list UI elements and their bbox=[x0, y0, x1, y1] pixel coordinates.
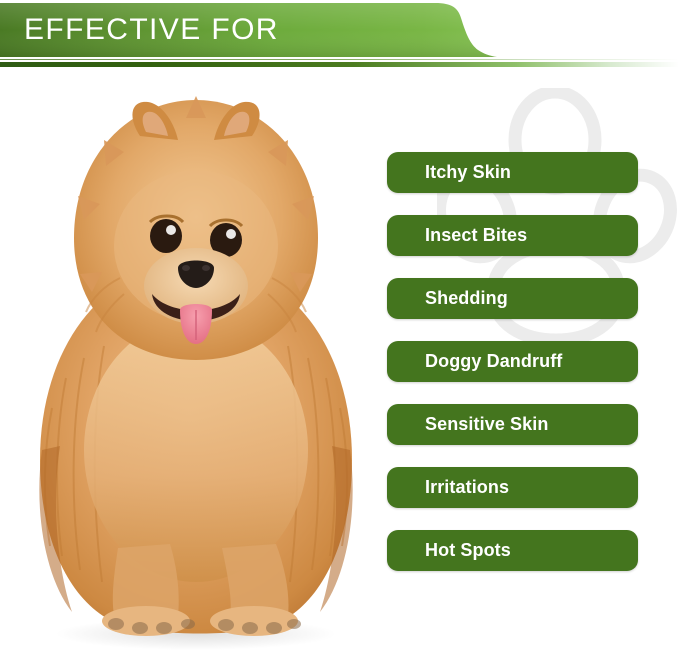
list-item-label: Insect Bites bbox=[387, 225, 527, 246]
list-item[interactable]: Sensitive Skin bbox=[387, 404, 638, 445]
product-feature-card: EFFECTIVE FOR bbox=[0, 0, 679, 668]
list-item[interactable]: Hot Spots bbox=[387, 530, 638, 571]
dog-illustration bbox=[0, 78, 392, 668]
list-item-label: Sensitive Skin bbox=[387, 414, 548, 435]
list-item[interactable]: Irritations bbox=[387, 467, 638, 508]
list-item-label: Shedding bbox=[387, 288, 508, 309]
list-item-label: Irritations bbox=[387, 477, 509, 498]
list-item-label: Itchy Skin bbox=[387, 162, 511, 183]
list-item[interactable]: Doggy Dandruff bbox=[387, 341, 638, 382]
list-item-label: Hot Spots bbox=[387, 540, 511, 561]
list-item[interactable]: Insect Bites bbox=[387, 215, 638, 256]
header-divider-rule bbox=[0, 62, 679, 67]
pomeranian-dog-photo bbox=[0, 78, 392, 668]
condition-list: Itchy Skin Insect Bites Shedding Doggy D… bbox=[387, 152, 638, 571]
list-item[interactable]: Shedding bbox=[387, 278, 638, 319]
list-item-label: Doggy Dandruff bbox=[387, 351, 562, 372]
page-title: EFFECTIVE FOR bbox=[24, 10, 279, 50]
list-item[interactable]: Itchy Skin bbox=[387, 152, 638, 193]
header-hairline bbox=[0, 59, 679, 60]
